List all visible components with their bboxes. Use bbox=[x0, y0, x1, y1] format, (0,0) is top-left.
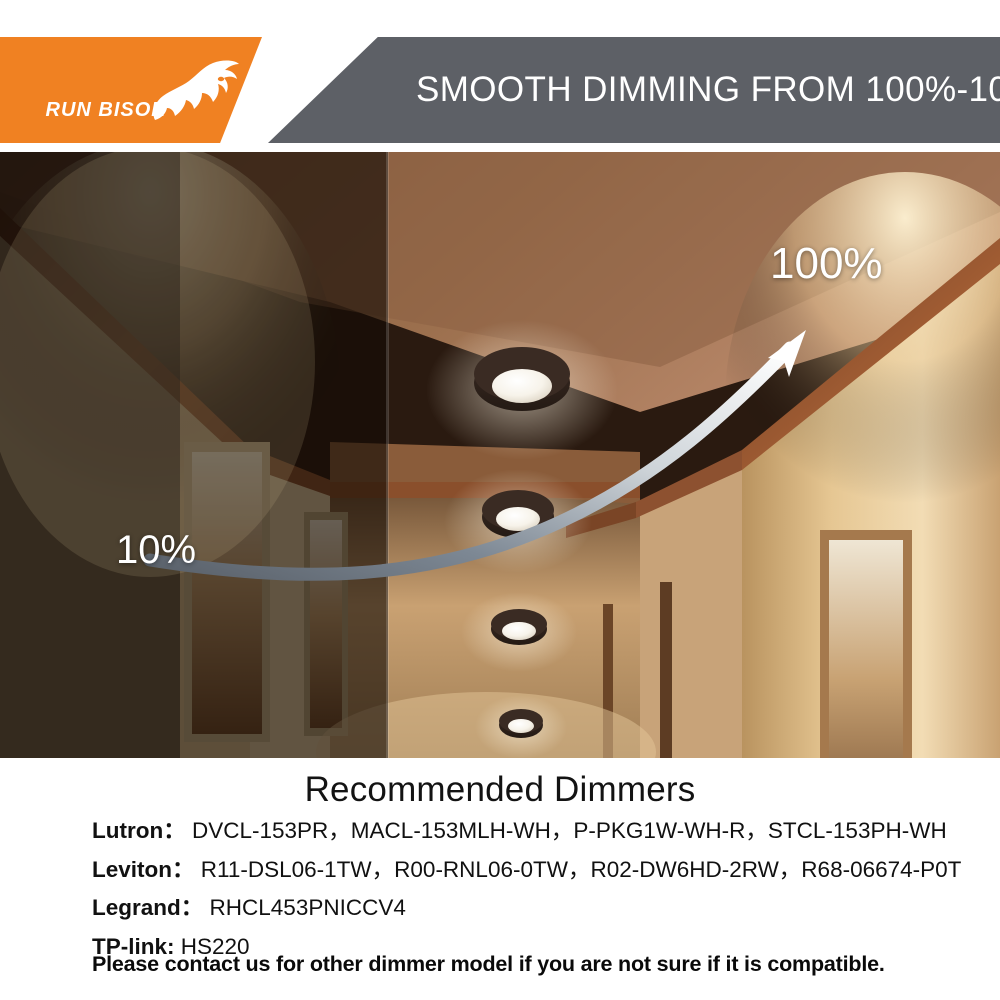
compatibility-note: Please contact us for other dimmer model… bbox=[92, 954, 972, 976]
page-title: SMOOTH DIMMING FROM 100%-10% bbox=[416, 70, 1000, 110]
dimmer-brand-label: Lutron： bbox=[92, 818, 186, 843]
dimmer-row-leviton: Leviton： R11-DSL06-1TW，R00-RNL06-0TW，R02… bbox=[92, 859, 962, 882]
ceiling-light-4 bbox=[475, 695, 567, 758]
logo-wrap: RUN BISON bbox=[24, 48, 239, 132]
brightness-label-100: 100% bbox=[770, 242, 883, 286]
header-title-block: SMOOTH DIMMING FROM 100%-10% bbox=[268, 37, 1000, 143]
dimmer-brand-label: Leviton： bbox=[92, 857, 195, 882]
dimmer-row-lutron: Lutron： DVCL-153PR，MACL-153MLH-WH，P-PKG1… bbox=[92, 820, 962, 843]
dimmer-model-values: R11-DSL06-1TW，R00-RNL06-0TW，R02-DW6HD-2R… bbox=[201, 857, 962, 882]
bison-head-icon bbox=[145, 54, 241, 128]
dimmer-model-values: RHCL453PNICCV4 bbox=[210, 895, 406, 920]
dimmer-model-values: DVCL-153PR，MACL-153MLH-WH，P-PKG1W-WH-R，S… bbox=[192, 818, 947, 843]
dimmer-info-section: Recommended Dimmers Lutron： DVCL-153PR，M… bbox=[0, 758, 1000, 1000]
dim-split-line bbox=[386, 152, 389, 758]
ceiling-light-1 bbox=[426, 320, 618, 460]
product-infographic: RUN BISON SMOOTH DIMMING FROM 100%-10% bbox=[0, 0, 1000, 1000]
dimmer-heading: Recommended Dimmers bbox=[0, 770, 1000, 810]
brightness-label-10: 10% bbox=[116, 530, 196, 570]
wall-art-right bbox=[820, 530, 912, 758]
brand-logo-block: RUN BISON bbox=[0, 37, 262, 143]
header-banner: RUN BISON SMOOTH DIMMING FROM 100%-10% bbox=[0, 37, 1000, 143]
dimmer-brand-label: Legrand： bbox=[92, 895, 203, 920]
dim-overlay bbox=[0, 152, 388, 758]
dimmer-list: Lutron： DVCL-153PR，MACL-153MLH-WH，P-PKG1… bbox=[92, 820, 962, 974]
hallway-photo: 100% 10% bbox=[0, 152, 1000, 758]
dimmer-row-legrand: Legrand： RHCL453PNICCV4 bbox=[92, 897, 962, 920]
ceiling-light-3 bbox=[461, 592, 577, 672]
